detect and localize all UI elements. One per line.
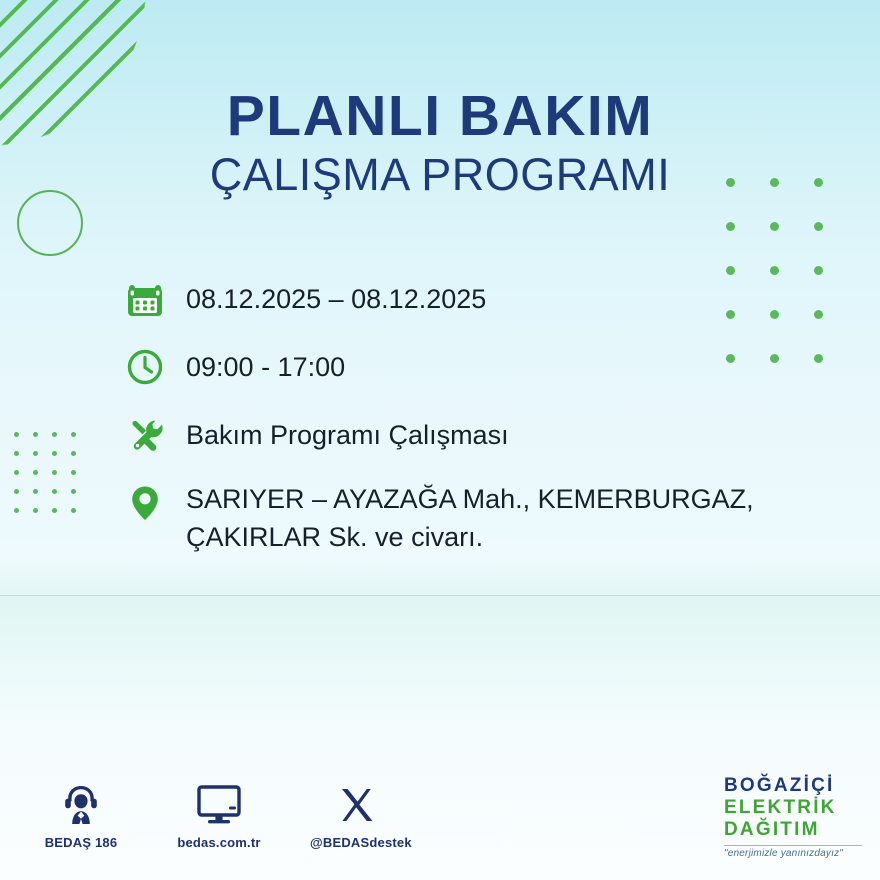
dot [14, 451, 19, 456]
dot [33, 432, 38, 437]
dot [52, 432, 57, 437]
lower-section-wash [0, 596, 880, 716]
dot [14, 432, 19, 437]
detail-row-time: 09:00 - 17:00 [118, 340, 878, 394]
dot [71, 508, 76, 513]
dot [770, 222, 779, 231]
dot [52, 470, 57, 475]
dot [33, 451, 38, 456]
monitor-icon [172, 782, 266, 828]
dot [52, 508, 57, 513]
page-title: PLANLI BAKIM ÇALIŞMA PROGRAMI [0, 86, 880, 202]
call-center-agent-icon [34, 782, 128, 828]
contact-call-center[interactable]: BEDAŞ 186 [34, 782, 128, 850]
brand-logo-line3: DAĞITIM [724, 820, 862, 839]
contact-call-center-label: BEDAŞ 186 [34, 835, 128, 850]
calendar-icon [118, 272, 172, 326]
dot [814, 222, 823, 231]
page-title-line1: PLANLI BAKIM [0, 86, 880, 146]
brand-slogan: "enerjimizle yanınızdayız" [724, 849, 862, 859]
brand-logo: BOĞAZİÇİ ELEKTRİK DAĞITIM "enerjimizle y… [724, 776, 862, 859]
contact-social-x-label: @BEDASdestek [310, 835, 404, 850]
contact-website-label: bedas.com.tr [172, 835, 266, 850]
dot [726, 222, 735, 231]
brand-logo-rule [724, 845, 862, 846]
dot [14, 470, 19, 475]
detail-worktype-text: Bakım Programı Çalışması [186, 408, 509, 454]
dot [14, 508, 19, 513]
dot [71, 470, 76, 475]
location-pin-icon [118, 476, 172, 530]
footer-contact-channels: BEDAŞ 186 bedas.com.tr @BEDASdestek [34, 782, 404, 850]
dot [71, 451, 76, 456]
detail-row-location: SARIYER – AYAZAĞA Mah., KEMERBURGAZ, ÇAK… [118, 476, 878, 557]
detail-date-text: 08.12.2025 – 08.12.2025 [186, 272, 486, 318]
dot [71, 489, 76, 494]
planned-maintenance-poster: PLANLI BAKIM ÇALIŞMA PROGRAMI [0, 0, 880, 880]
brand-logo-line1: BOĞAZİÇİ [724, 776, 862, 795]
x-twitter-icon [310, 782, 404, 828]
dot [14, 489, 19, 494]
brand-logo-line2: ELEKTRİK [724, 798, 862, 817]
contact-social-x[interactable]: @BEDASdestek [310, 782, 404, 850]
detail-row-worktype: Bakım Programı Çalışması [118, 408, 878, 462]
dot-grid-left-decoration [14, 432, 90, 527]
dot [33, 470, 38, 475]
tools-icon [118, 408, 172, 462]
detail-row-date: 08.12.2025 – 08.12.2025 [118, 272, 878, 326]
dot [71, 432, 76, 437]
detail-time-text: 09:00 - 17:00 [186, 340, 345, 386]
outage-details-list: 08.12.2025 – 08.12.2025 09:00 - 17:00 [118, 272, 878, 571]
dot [33, 489, 38, 494]
dot [52, 451, 57, 456]
page-title-line2: ÇALIŞMA PROGRAMI [0, 148, 880, 202]
dot [33, 508, 38, 513]
section-divider [0, 595, 880, 596]
dot [52, 489, 57, 494]
detail-location-text: SARIYER – AYAZAĞA Mah., KEMERBURGAZ, ÇAK… [186, 476, 878, 557]
contact-website[interactable]: bedas.com.tr [172, 782, 266, 850]
clock-icon [118, 340, 172, 394]
